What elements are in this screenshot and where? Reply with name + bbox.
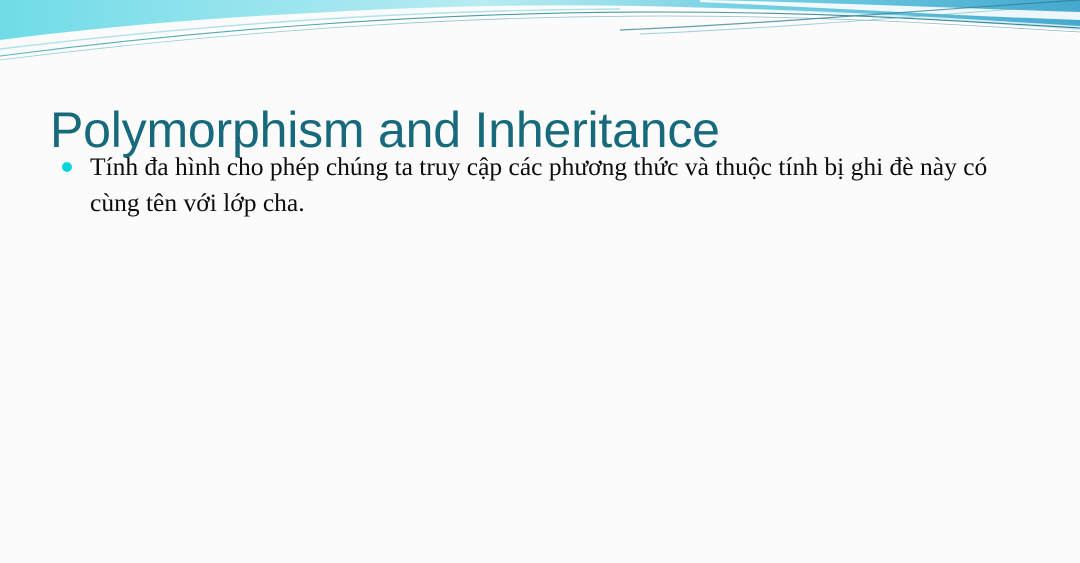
bullet-dot-icon [62,162,72,172]
presentation-slide: Polymorphism and Inheritance Tính đa hìn… [0,0,1080,563]
wave-banner-decoration [0,0,1080,72]
bullet-text: Tính đa hình cho phép chúng ta truy cập … [90,149,1013,221]
list-item: Tính đa hình cho phép chúng ta truy cập … [58,149,1013,221]
slide-body-list: Tính đa hình cho phép chúng ta truy cập … [58,149,1013,221]
